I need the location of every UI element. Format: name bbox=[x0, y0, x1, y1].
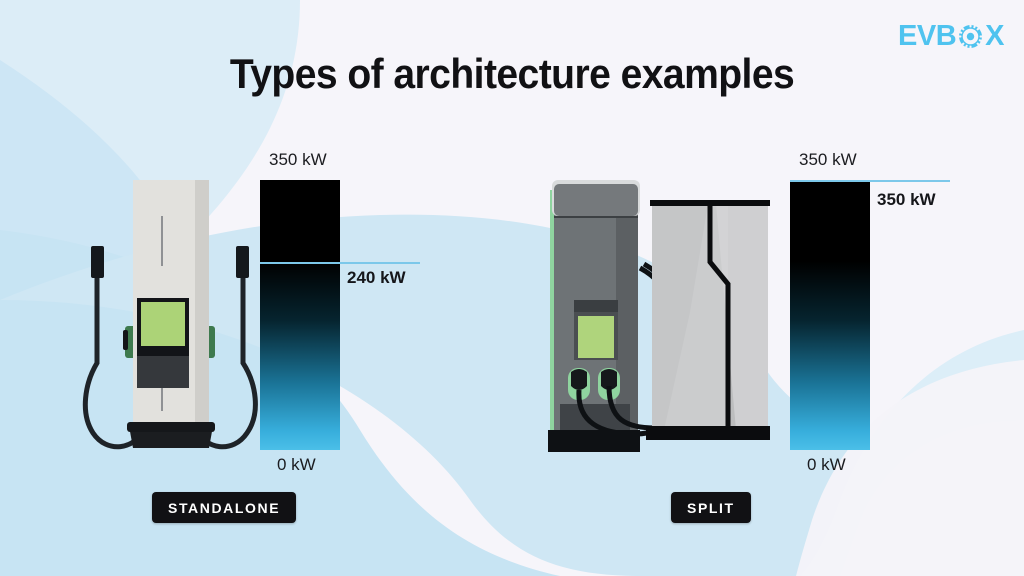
split-bar-top-label: 350 kW bbox=[799, 150, 857, 170]
standalone-charger-illustration bbox=[75, 178, 265, 453]
badge-split[interactable]: SPLIT bbox=[671, 492, 751, 523]
split-power-bar bbox=[790, 180, 870, 450]
split-bar-bottom-label: 0 kW bbox=[807, 455, 846, 475]
cog-icon bbox=[957, 23, 984, 50]
badge-standalone[interactable]: STANDALONE bbox=[152, 492, 296, 523]
logo-text-left: EVB bbox=[898, 22, 956, 51]
split-charger-illustration bbox=[540, 172, 770, 454]
slide-canvas: Types of architecture examples EVB bbox=[0, 0, 1024, 576]
split-level-line bbox=[790, 180, 950, 182]
standalone-power-bar bbox=[260, 180, 340, 450]
standalone-level-label: 240 kW bbox=[347, 268, 406, 288]
evbox-logo: EVB bbox=[898, 22, 1004, 51]
logo-text-right: X bbox=[985, 22, 1004, 51]
page-title: Types of architecture examples bbox=[36, 50, 988, 98]
split-level-label: 350 kW bbox=[877, 190, 936, 210]
standalone-bar-top-label: 350 kW bbox=[269, 150, 327, 170]
standalone-level-line bbox=[260, 262, 420, 264]
standalone-bar-bottom-label: 0 kW bbox=[277, 455, 316, 475]
